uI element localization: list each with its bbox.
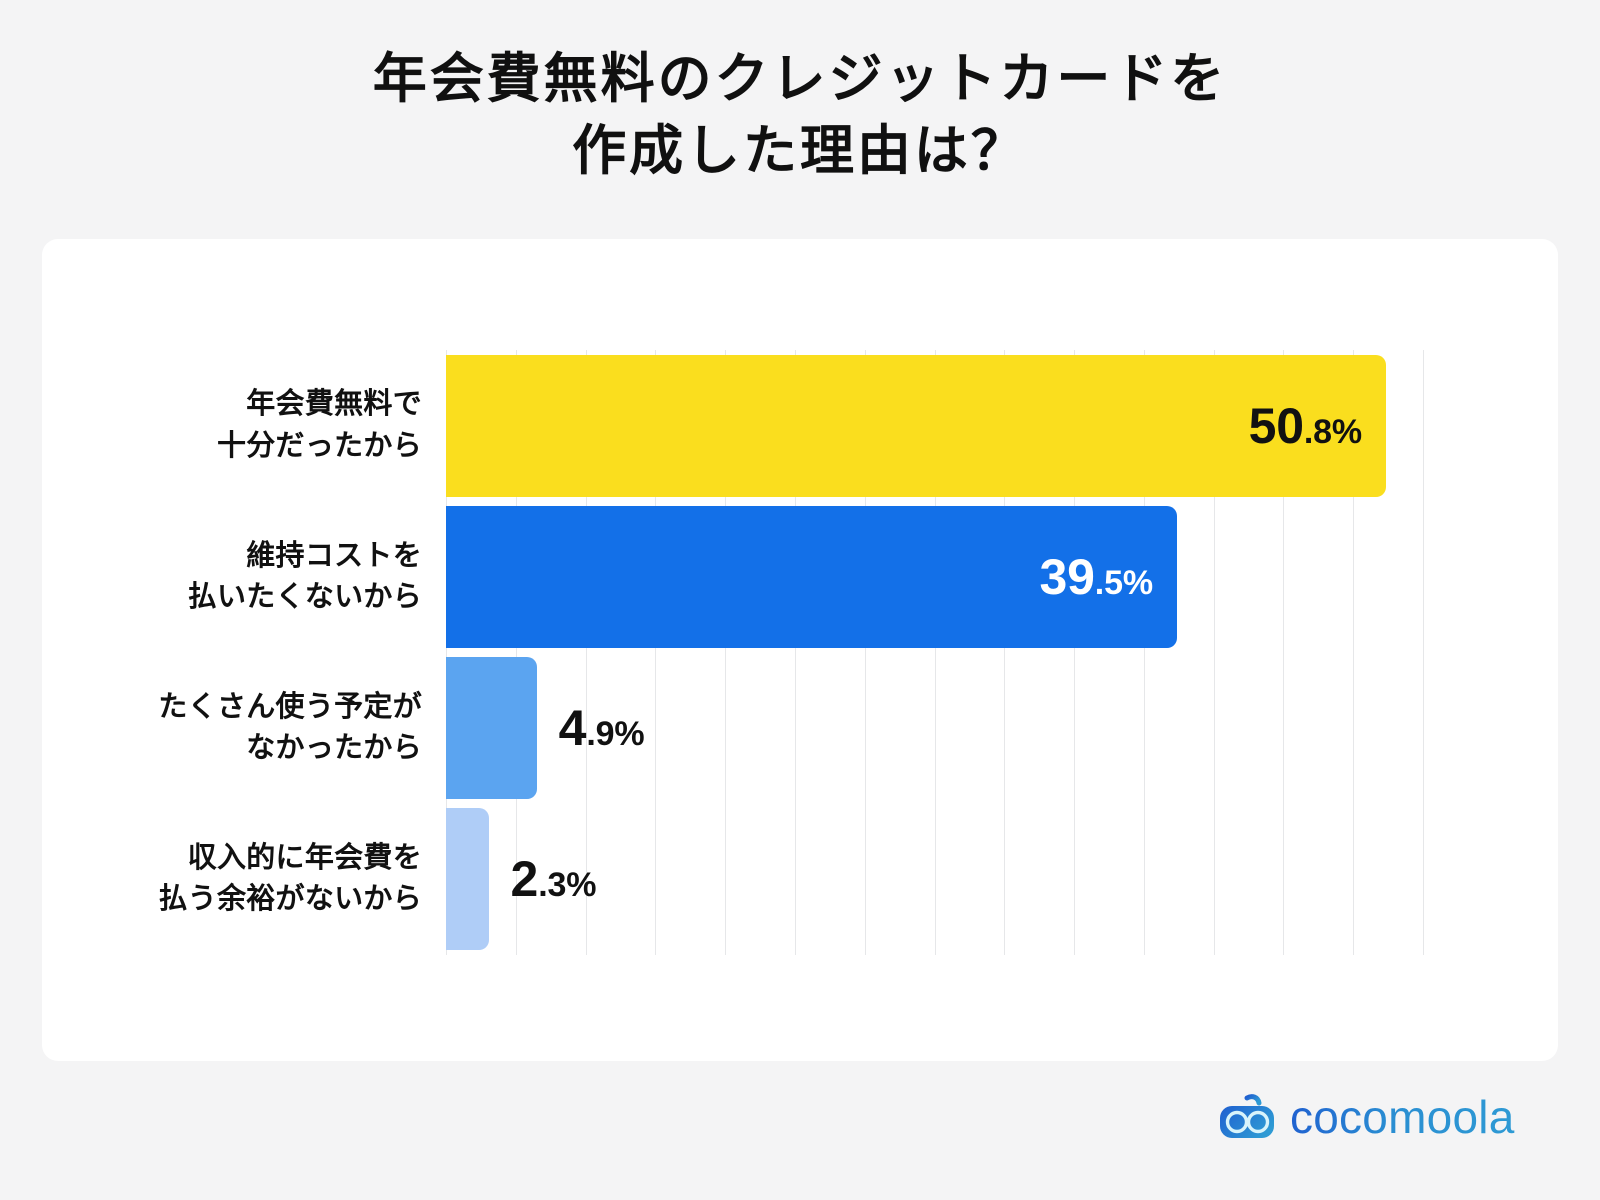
bar-row: 50.8% — [446, 355, 1423, 497]
bar-row: 2.3% — [446, 808, 1423, 950]
bar-value-integer: 39 — [1039, 549, 1094, 605]
plot-area: 50.8%39.5%4.9%2.3% — [446, 350, 1423, 955]
category-label: 維持コストを 払いたくないから — [62, 506, 422, 648]
bar-value-label: 50.8% — [1249, 397, 1362, 455]
bar-value-label: 2.3% — [511, 850, 597, 908]
bar-rows: 50.8%39.5%4.9%2.3% — [446, 350, 1423, 955]
category-label: たくさん使う予定が なかったから — [62, 657, 422, 799]
gridline — [1423, 350, 1424, 955]
logo-wordmark: cocomoola — [1290, 1094, 1515, 1140]
chart-page: 年会費無料のクレジットカードを 作成した理由は？ 年会費無料で 十分だったから維… — [0, 0, 1600, 1200]
category-label: 収入的に年会費を 払う余裕がないから — [62, 808, 422, 950]
bar-value-decimal: .5% — [1095, 564, 1153, 602]
cocomoola-logo: cocomoola — [1218, 1094, 1515, 1140]
chart-title: 年会費無料のクレジットカードを 作成した理由は？ — [0, 44, 1600, 188]
bar-row: 39.5% — [446, 506, 1423, 648]
bar-value-decimal: .8% — [1304, 413, 1362, 451]
page-title: 年会費無料のクレジットカードを 作成した理由は？ — [0, 44, 1600, 188]
bar-value-integer: 4 — [559, 700, 587, 756]
category-axis: 年会費無料で 十分だったから維持コストを 払いたくないからたくさん使う予定が な… — [62, 350, 422, 955]
bar-value-integer: 50 — [1249, 398, 1304, 454]
bar[interactable]: 2.3% — [446, 808, 489, 950]
bar-value-integer: 2 — [511, 851, 539, 907]
cocomoola-robot-icon — [1218, 1094, 1276, 1140]
bar-row: 4.9% — [446, 657, 1423, 799]
category-label: 年会費無料で 十分だったから — [62, 355, 422, 497]
bar[interactable]: 39.5% — [446, 506, 1177, 648]
bar-value-label: 4.9% — [559, 699, 645, 757]
bar[interactable]: 50.8% — [446, 355, 1386, 497]
bar-chart: 年会費無料で 十分だったから維持コストを 払いたくないからたくさん使う予定が な… — [42, 239, 1558, 1061]
chart-card: 年会費無料で 十分だったから維持コストを 払いたくないからたくさん使う予定が な… — [42, 239, 1558, 1061]
bar-value-label: 39.5% — [1039, 548, 1152, 606]
bar[interactable]: 4.9% — [446, 657, 537, 799]
bar-value-decimal: .3% — [538, 866, 596, 904]
bar-value-decimal: .9% — [586, 715, 644, 753]
